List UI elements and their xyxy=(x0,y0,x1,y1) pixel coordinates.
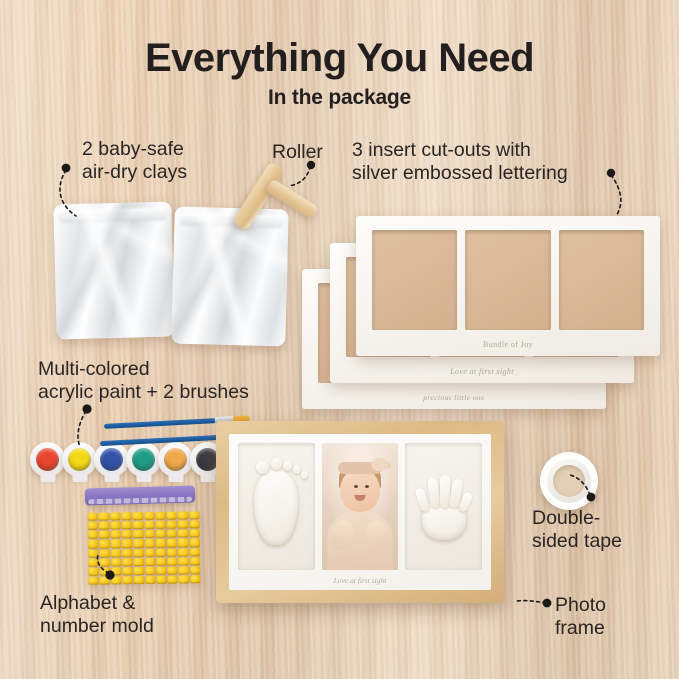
callout-label-tape: Double- sided tape xyxy=(532,507,622,553)
leader-lines xyxy=(0,0,679,679)
callout-label-paint: Multi-colored acrylic paint + 2 brushes xyxy=(38,358,249,404)
callout-label-roller: Roller xyxy=(272,141,323,164)
callout-label-alphabet-mold: Alphabet & number mold xyxy=(40,592,154,638)
infographic-canvas: Everything You Need In the package preci… xyxy=(0,0,679,679)
callout-label-photo-frame: Photo frame xyxy=(555,594,606,640)
callout-label-inserts: 3 insert cut-outs with silver embossed l… xyxy=(352,139,568,185)
callout-label-clays: 2 baby-safe air-dry clays xyxy=(82,138,187,184)
